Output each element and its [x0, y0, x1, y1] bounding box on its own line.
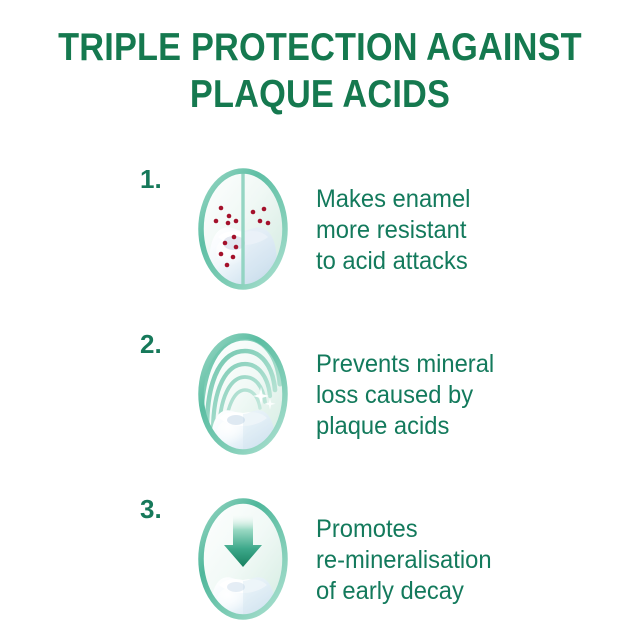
- benefit-2-line-1: Prevents mineral: [316, 349, 624, 380]
- benefit-3-line-3: of early decay: [316, 576, 624, 607]
- benefit-text-3: Promotes re-mineralisation of early deca…: [316, 514, 624, 607]
- benefit-1-line-3: to acid attacks: [316, 246, 624, 277]
- benefits-list: 1.: [0, 148, 640, 643]
- infographic-poster: TRIPLE PROTECTION AGAINST PLAQUE ACIDS 1…: [0, 0, 640, 640]
- benefit-3-line-2: re-mineralisation: [316, 545, 624, 576]
- benefit-2-line-3: plaque acids: [316, 411, 624, 442]
- benefit-2-line-2: loss caused by: [316, 380, 624, 411]
- benefit-row-3: 3.: [0, 478, 640, 643]
- title-line-2: PLAQUE ACIDS: [38, 71, 601, 118]
- title-line-1: TRIPLE PROTECTION AGAINST: [38, 24, 601, 71]
- benefit-number-3: 3.: [140, 496, 188, 522]
- benefit-number-2: 2.: [140, 331, 188, 357]
- benefit-text-1: Makes enamel more resistant to acid atta…: [316, 184, 624, 277]
- tooth-acid-attack-icon: [188, 159, 298, 303]
- benefit-text-2: Prevents mineral loss caused by plaque a…: [316, 349, 624, 442]
- benefit-1-line-1: Makes enamel: [316, 184, 624, 215]
- page-title: TRIPLE PROTECTION AGAINST PLAQUE ACIDS: [0, 0, 640, 118]
- tooth-down-arrow-icon: [188, 489, 298, 633]
- benefit-row-2: 2.: [0, 313, 640, 478]
- benefit-number-1: 1.: [140, 166, 188, 192]
- benefit-3-line-1: Promotes: [316, 514, 624, 545]
- tooth-shield-waves-icon: [188, 324, 298, 468]
- benefit-1-line-2: more resistant: [316, 215, 624, 246]
- benefit-row-1: 1.: [0, 148, 640, 313]
